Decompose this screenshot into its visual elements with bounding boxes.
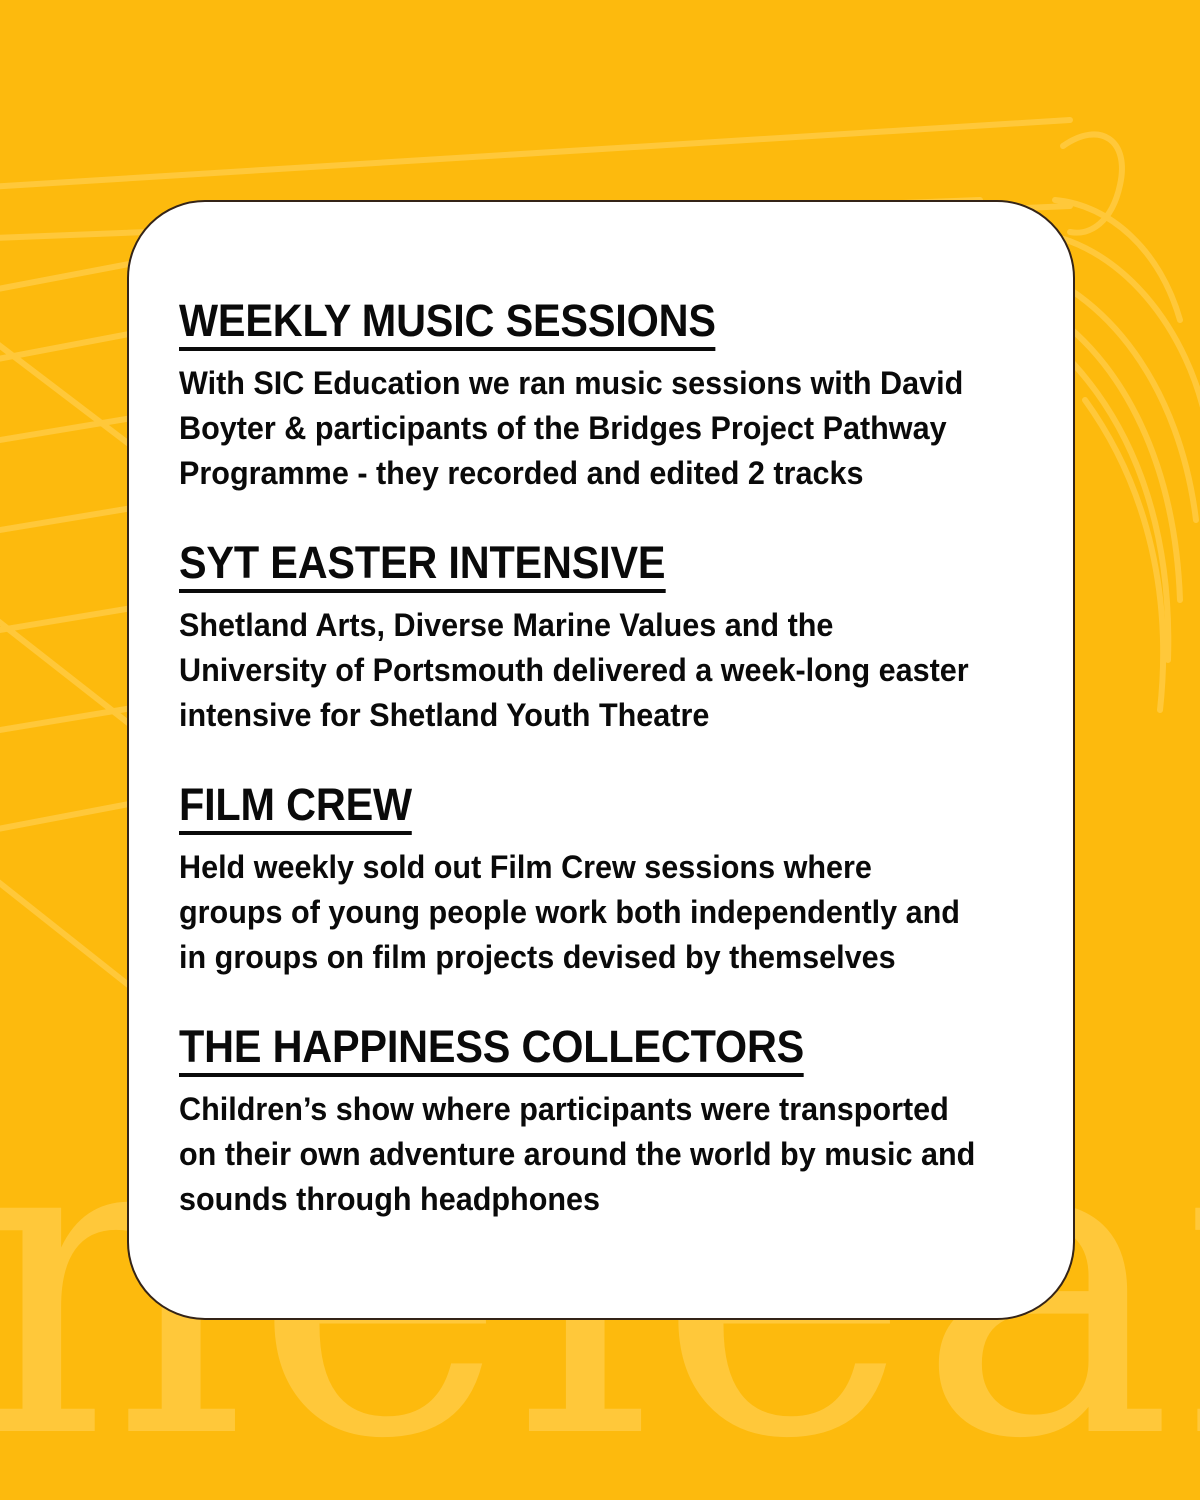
poster-canvas: neiearu WEEKLY MUSIC SESSIONS With SIC E…	[0, 0, 1200, 1500]
section-the-happiness-collectors: THE HAPPINESS COLLECTORS Children’s show…	[179, 1024, 1021, 1222]
section-syt-easter-intensive: SYT EASTER INTENSIVE Shetland Arts, Dive…	[179, 540, 1021, 738]
section-weekly-music-sessions: WEEKLY MUSIC SESSIONS With SIC Education…	[179, 298, 1021, 496]
section-description: Held weekly sold out Film Crew sessions …	[179, 845, 983, 980]
section-title: SYT EASTER INTENSIVE	[179, 540, 665, 593]
section-title: FILM CREW	[179, 782, 412, 835]
section-description: Children’s show where participants were …	[179, 1087, 983, 1222]
section-title: WEEKLY MUSIC SESSIONS	[179, 298, 716, 351]
section-film-crew: FILM CREW Held weekly sold out Film Crew…	[179, 782, 1021, 980]
content-card-body: WEEKLY MUSIC SESSIONS With SIC Education…	[129, 202, 1073, 1262]
section-title: THE HAPPINESS COLLECTORS	[179, 1024, 804, 1077]
section-description: With SIC Education we ran music sessions…	[179, 361, 983, 496]
section-description: Shetland Arts, Diverse Marine Values and…	[179, 603, 983, 738]
content-card: WEEKLY MUSIC SESSIONS With SIC Education…	[127, 200, 1075, 1320]
